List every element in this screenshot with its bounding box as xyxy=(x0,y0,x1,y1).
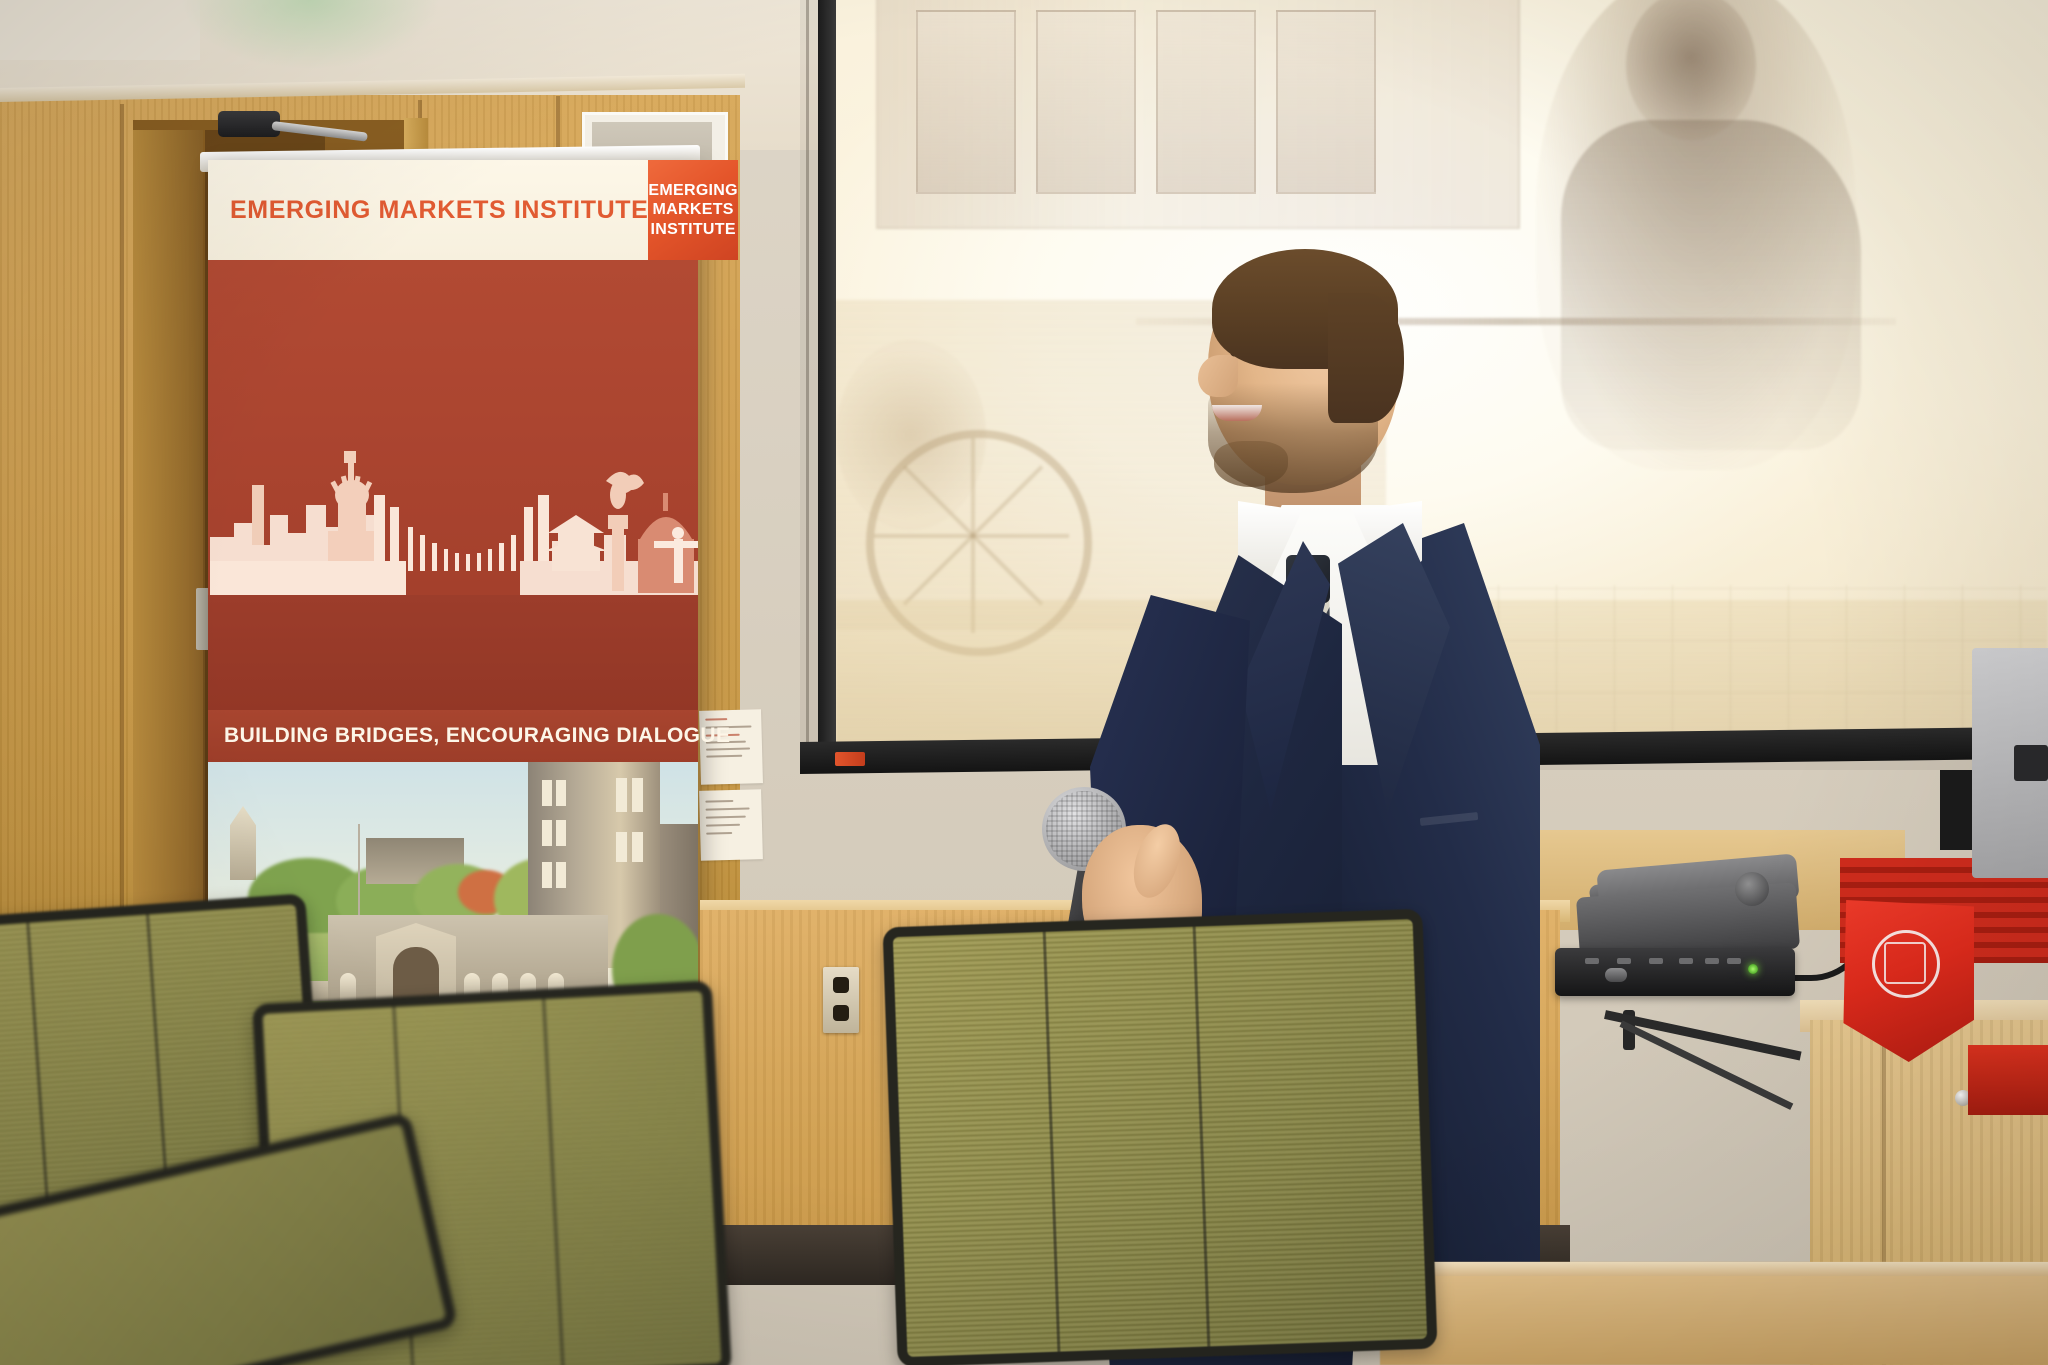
cornell-seal-shield-icon xyxy=(1884,942,1926,984)
camera-lens-icon xyxy=(1735,872,1769,906)
hair-side xyxy=(1328,293,1404,423)
slide-window-pane xyxy=(916,10,1016,194)
power-outlet xyxy=(823,967,859,1033)
monitor-port xyxy=(2014,745,2048,781)
door-closer-arm xyxy=(271,121,367,142)
banner-tagline-band: BUILDING BRIDGES, ENCOURAGING DIALOGUE xyxy=(208,710,698,762)
slide-window-pane xyxy=(1276,10,1376,194)
wall-notice-sign xyxy=(699,789,763,861)
panel-seam xyxy=(120,104,124,1029)
screen-cable xyxy=(806,0,809,745)
power-led-icon xyxy=(1748,964,1758,974)
door-closer-assembly xyxy=(218,95,378,155)
banner-skyline-panel xyxy=(208,260,698,595)
screen-left-edge xyxy=(818,0,836,745)
banner-header: EMERGING MARKETS INSTITUTE EMERGING MARK… xyxy=(208,160,698,260)
screen-brand-tag-icon xyxy=(835,752,865,766)
banner-header-title: EMERGING MARKETS INSTITUTE xyxy=(208,196,648,225)
banner-lower-red-band xyxy=(208,595,698,710)
foreground-table xyxy=(1380,1262,2048,1365)
skyline-graphic-icon xyxy=(208,355,698,595)
chin xyxy=(1214,441,1288,487)
slide-window-pane xyxy=(1036,10,1136,194)
ceiling xyxy=(0,0,200,60)
emi-logo-line-2: MARKETS xyxy=(653,200,734,220)
emi-logo: EMERGING MARKETS INSTITUTE xyxy=(648,160,738,260)
conference-room-scene: EMERGING MARKETS INSTITUTE EMERGING MARK… xyxy=(0,0,2048,1365)
banner-tagline: BUILDING BRIDGES, ENCOURAGING DIALOGUE xyxy=(208,724,730,748)
emi-logo-line-1: EMERGING xyxy=(648,181,738,201)
mounting-bracket xyxy=(1595,1010,1825,1150)
wall-light-glow xyxy=(180,0,440,70)
nose xyxy=(1198,355,1238,397)
document-camera-dial[interactable] xyxy=(1605,968,1627,982)
red-banner-fold xyxy=(1968,1045,2048,1115)
document-camera-base[interactable] xyxy=(1555,948,1795,996)
table-edge xyxy=(1380,1262,2048,1276)
open-door[interactable] xyxy=(133,130,203,1030)
emi-logo-line-3: INSTITUTE xyxy=(650,220,735,240)
conference-chair[interactable] xyxy=(882,909,1437,1365)
slide-person-body xyxy=(1561,120,1861,450)
slide-window-pane xyxy=(1156,10,1256,194)
campus-photo-flagpole xyxy=(358,824,360,920)
door-closer-body xyxy=(218,111,280,137)
